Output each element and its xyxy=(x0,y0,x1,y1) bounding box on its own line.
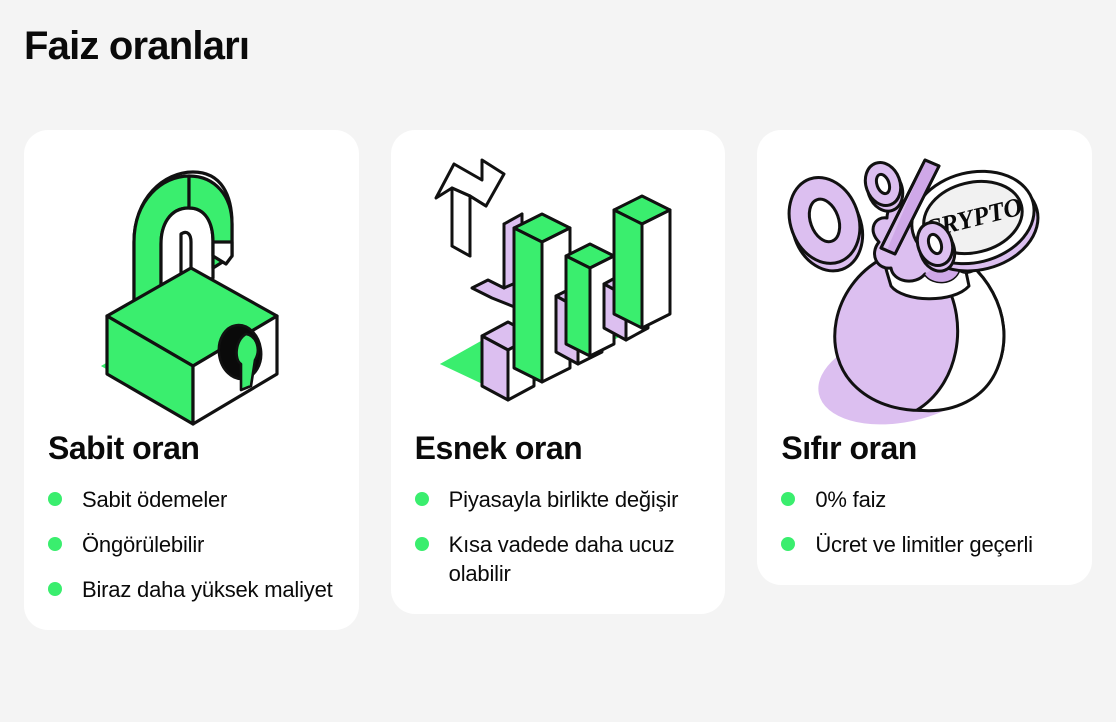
page-root: Faiz oranları xyxy=(0,0,1116,722)
card-heading: Sabit oran xyxy=(24,430,359,467)
list-item: Piyasayla birlikte değişir xyxy=(415,485,704,514)
bullet-dot-icon xyxy=(415,537,429,551)
bullet-label: Sabit ödemeler xyxy=(82,485,227,514)
bullet-label: Biraz daha yüksek maliyet xyxy=(82,575,333,604)
bar-chart-arrows-isometric-icon xyxy=(391,130,726,430)
bullet-dot-icon xyxy=(48,582,62,596)
list-item: Kısa vadede daha ucuz olabilir xyxy=(415,530,704,588)
bullet-list: Piyasayla birlikte değişir Kısa vadede d… xyxy=(391,485,726,588)
card-heading: Sıfır oran xyxy=(757,430,1092,467)
bullet-list: Sabit ödemeler Öngörülebilir Biraz daha … xyxy=(24,485,359,604)
bullet-dot-icon xyxy=(781,537,795,551)
page-title: Faiz oranları xyxy=(24,22,249,70)
bar-chart-svg xyxy=(408,138,708,428)
card-sabit-oran[interactable]: Sabit oran Sabit ödemeler Öngörülebilir … xyxy=(24,130,359,630)
padlock-isometric-icon xyxy=(24,130,359,430)
bullet-label: Ücret ve limitler geçerli xyxy=(815,530,1033,559)
list-item: Sabit ödemeler xyxy=(48,485,337,514)
list-item: Ücret ve limitler geçerli xyxy=(781,530,1070,559)
bullet-label: Piyasayla birlikte değişir xyxy=(449,485,679,514)
bullet-dot-icon xyxy=(48,537,62,551)
list-item: Biraz daha yüksek maliyet xyxy=(48,575,337,604)
bullet-dot-icon xyxy=(781,492,795,506)
money-bag-crypto-coin-isometric-icon: CRYPTO xyxy=(757,130,1092,430)
padlock-svg xyxy=(41,138,341,428)
bullet-list: 0% faiz Ücret ve limitler geçerli xyxy=(757,485,1092,559)
bullet-label: Öngörülebilir xyxy=(82,530,204,559)
money-bag-svg: CRYPTO xyxy=(775,138,1075,428)
card-esnek-oran[interactable]: Esnek oran Piyasayla birlikte değişir Kı… xyxy=(391,130,726,614)
card-sifir-oran[interactable]: CRYPTO xyxy=(757,130,1092,585)
list-item: Öngörülebilir xyxy=(48,530,337,559)
bullet-dot-icon xyxy=(48,492,62,506)
bullet-label: 0% faiz xyxy=(815,485,886,514)
card-grid: Sabit oran Sabit ödemeler Öngörülebilir … xyxy=(24,130,1092,630)
bullet-label: Kısa vadede daha ucuz olabilir xyxy=(449,530,704,588)
bullet-dot-icon xyxy=(415,492,429,506)
list-item: 0% faiz xyxy=(781,485,1070,514)
card-heading: Esnek oran xyxy=(391,430,726,467)
